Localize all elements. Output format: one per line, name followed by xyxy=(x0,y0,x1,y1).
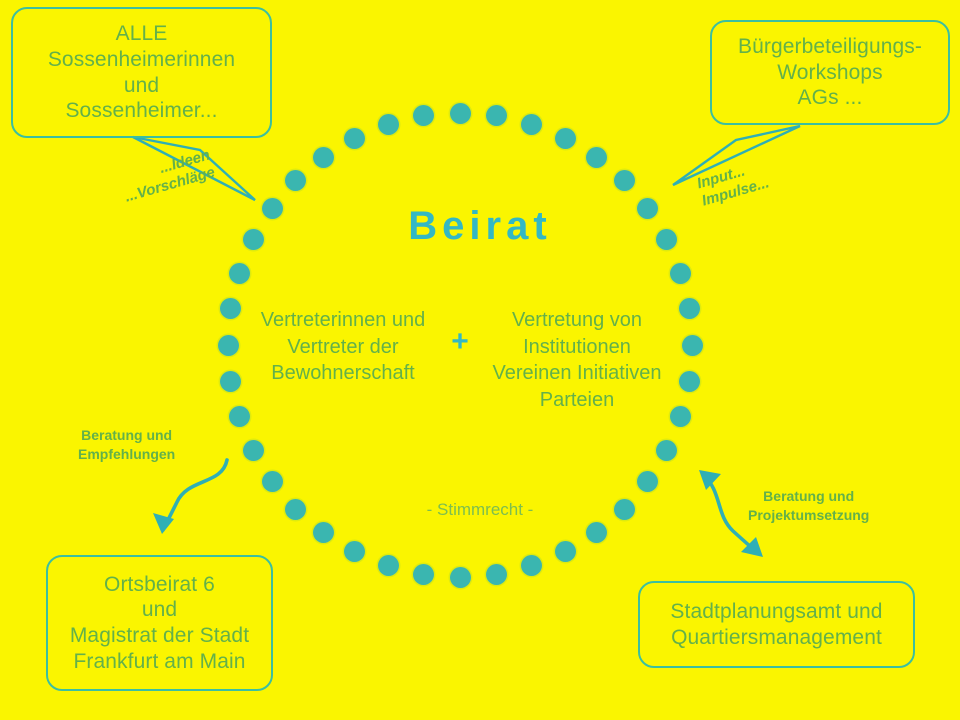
column-institutions-line: Vertretung xyxy=(512,309,604,331)
column-residents: Vertreterinnen und Vertreter der Bewohne… xyxy=(253,307,433,387)
bubble-participation-workshops-line: Workshops xyxy=(777,60,883,86)
bubble-ortsbeirat-line: Frankfurt am Main xyxy=(73,649,245,675)
bubble-ortsbeirat-line: und xyxy=(142,597,177,623)
column-institutions-line: Institutionen xyxy=(523,336,631,358)
bubble-participation-workshops-line: AGs ... xyxy=(798,85,863,111)
ring-dot xyxy=(262,471,283,492)
bubble-ortsbeirat-line: Ortsbeirat 6 xyxy=(104,572,215,598)
ring-dot xyxy=(555,128,576,149)
ring-dot xyxy=(243,440,264,461)
ring-dot xyxy=(413,105,434,126)
ring-dot xyxy=(586,522,607,543)
column-residents-line: Bewohnerschaft xyxy=(271,362,414,384)
ring-dot xyxy=(344,541,365,562)
bubble-all-citizens-line: Sossenheimer... xyxy=(65,98,217,124)
column-institutions-line: Vereinen xyxy=(492,362,571,384)
bubble-stadtplanungsamt[interactable]: Stadtplanungsamt und Quartiersmanagement xyxy=(638,581,915,668)
ring-dot xyxy=(218,335,239,356)
bubble-participation-workshops-line: Bürgerbeteiligungs- xyxy=(738,34,922,60)
ring-dot xyxy=(656,440,677,461)
column-residents-line: Vertreterinnen xyxy=(261,309,387,331)
annotation-beratung-projekt-line: Projektumsetzung xyxy=(748,506,869,525)
ring-dot xyxy=(313,147,334,168)
ring-dot xyxy=(670,406,691,427)
beirat-composition: Vertreterinnen und Vertreter der Bewohne… xyxy=(250,307,670,413)
ring-dot xyxy=(413,564,434,585)
annotation-beratung-empfehlungen-line: Empfehlungen xyxy=(78,445,175,464)
ring-dot xyxy=(450,567,471,588)
annotation-beratung-projekt-line: Beratung und xyxy=(748,487,869,506)
bubble-ortsbeirat-line: Magistrat der Stadt xyxy=(70,623,249,649)
bubble-stadtplanungsamt-line: Stadtplanungsamt und xyxy=(670,599,882,625)
ring-dot xyxy=(378,114,399,135)
annotation-beratung-empfehlungen: Beratung und Empfehlungen xyxy=(78,426,175,464)
ring-dot xyxy=(220,298,241,319)
ring-dot xyxy=(313,522,334,543)
bubble-all-citizens-line: Sossenheimerinnen xyxy=(48,47,235,73)
plus-icon: + xyxy=(433,307,487,357)
column-institutions-line: Parteien xyxy=(540,389,615,411)
bubble-all-citizens[interactable]: ALLE Sossenheimerinnen und Sossenheimer.… xyxy=(11,7,272,138)
column-institutions-line: von xyxy=(610,309,642,331)
ring-dot xyxy=(521,114,542,135)
bubble-ortsbeirat-magistrat[interactable]: Ortsbeirat 6 und Magistrat der Stadt Fra… xyxy=(46,555,273,691)
ring-dot xyxy=(229,406,250,427)
ring-dot xyxy=(555,541,576,562)
ring-dot xyxy=(220,371,241,392)
ring-dot xyxy=(486,564,507,585)
ring-dot xyxy=(378,555,399,576)
ring-dot xyxy=(679,298,700,319)
column-institutions: Vertretung von Institutionen Vereinen In… xyxy=(487,307,667,413)
bubble-participation-workshops[interactable]: Bürgerbeteiligungs- Workshops AGs ... xyxy=(710,20,950,125)
ring-dot xyxy=(521,555,542,576)
column-institutions-line: Initiativen xyxy=(577,362,662,384)
ring-dot xyxy=(670,263,691,284)
annotation-beratung-empfehlungen-line: Beratung und xyxy=(78,426,175,445)
column-residents-line: der xyxy=(370,336,399,358)
bubble-all-citizens-line: und xyxy=(124,73,159,99)
ring-dot xyxy=(229,263,250,284)
bubble-stadtplanungsamt-line: Quartiersmanagement xyxy=(671,625,882,651)
ring-dot xyxy=(486,105,507,126)
ring-dot xyxy=(679,371,700,392)
ring-dot xyxy=(586,147,607,168)
annotation-beratung-projektumsetzung: Beratung und Projektumsetzung xyxy=(748,487,869,525)
ring-dot xyxy=(682,335,703,356)
ring-dot xyxy=(344,128,365,149)
ring-dot xyxy=(450,103,471,124)
ring-dot xyxy=(637,471,658,492)
ring-dot xyxy=(614,170,635,191)
ring-dot xyxy=(285,170,306,191)
bubble-all-citizens-line: ALLE xyxy=(116,21,168,47)
page-title: Beirat xyxy=(0,204,960,249)
diagram-canvas: Beirat Vertreterinnen und Vertreter der … xyxy=(0,0,960,720)
